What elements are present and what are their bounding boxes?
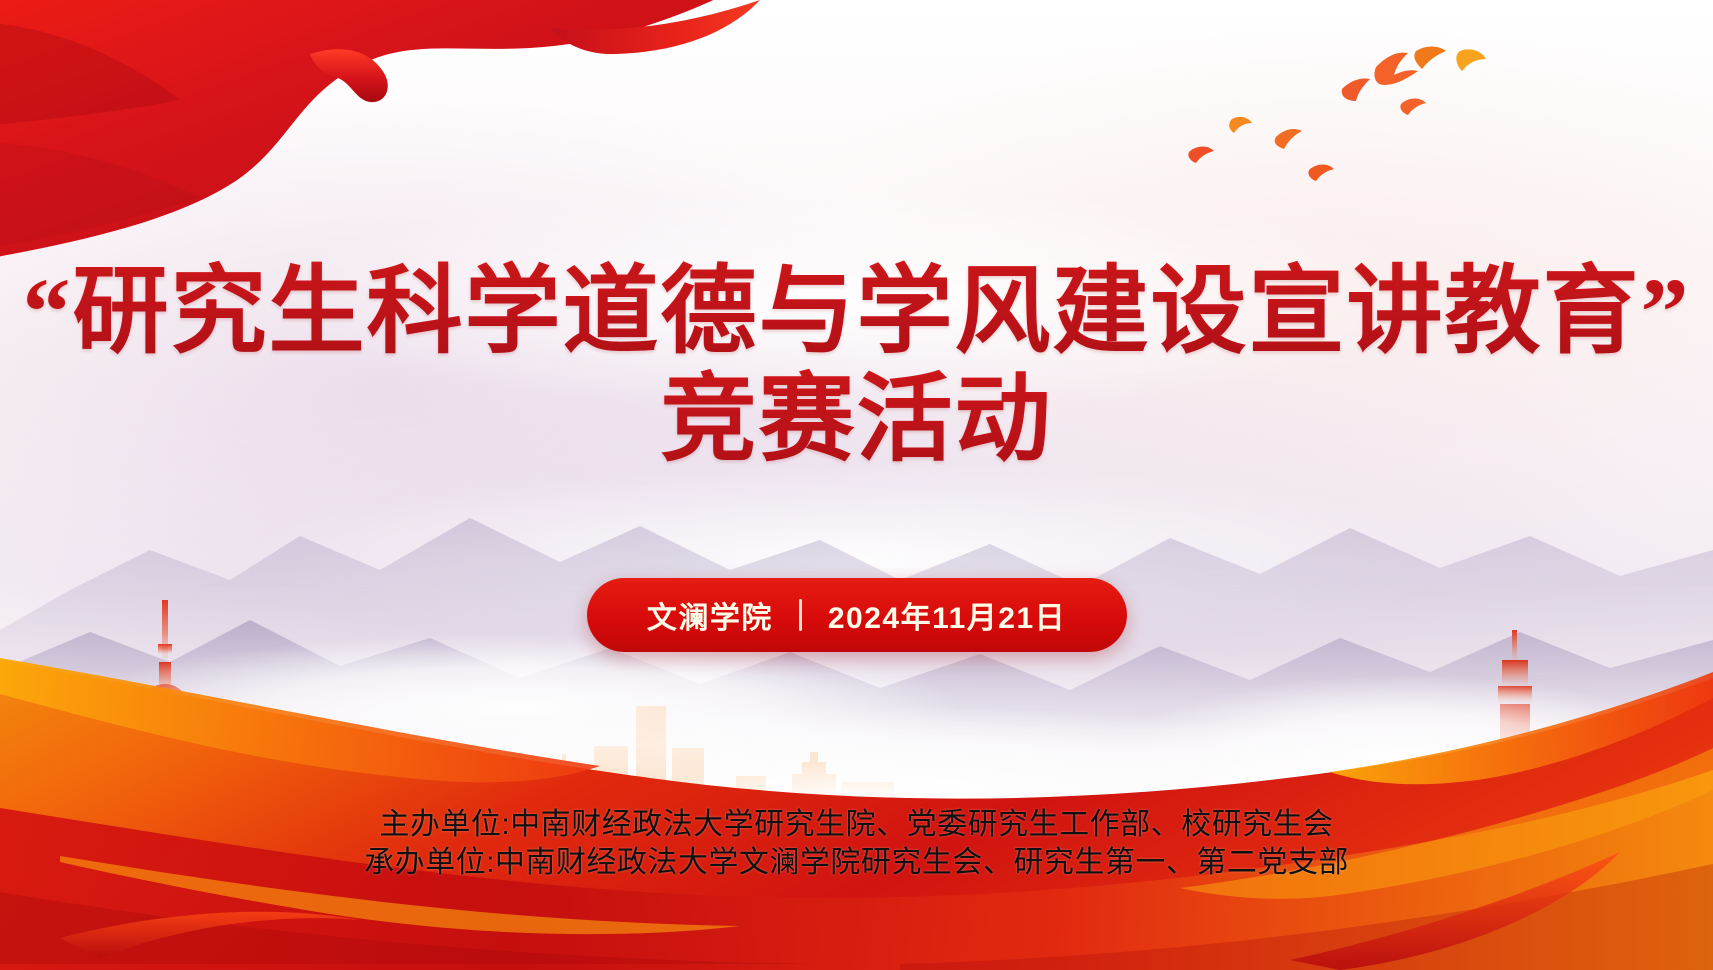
poster-title: “研究生科学道德与学风建设宣讲教育” 竞赛活动 bbox=[0, 258, 1713, 474]
poster-canvas: “研究生科学道德与学风建设宣讲教育” 竞赛活动 文澜学院 2024年11月21日… bbox=[0, 0, 1713, 970]
footer-line-co-host: 承办单位:中南财经政法大学文澜学院研究生会、研究生第一、第二党支部 bbox=[0, 844, 1713, 882]
badge-organizer: 文澜学院 bbox=[647, 593, 773, 637]
title-line-2: 竞赛活动 bbox=[0, 366, 1713, 474]
footer-line-host: 主办单位:中南财经政法大学研究生院、党委研究生工作部、校研究生会 bbox=[0, 806, 1713, 844]
badge-separator-icon bbox=[799, 599, 802, 631]
title-line-1: “研究生科学道德与学风建设宣讲教育” bbox=[0, 258, 1713, 366]
event-badge: 文澜学院 2024年11月21日 bbox=[587, 578, 1127, 652]
organizer-footer: 主办单位:中南财经政法大学研究生院、党委研究生工作部、校研究生会 承办单位:中南… bbox=[0, 806, 1713, 882]
badge-date: 2024年11月21日 bbox=[828, 593, 1066, 637]
